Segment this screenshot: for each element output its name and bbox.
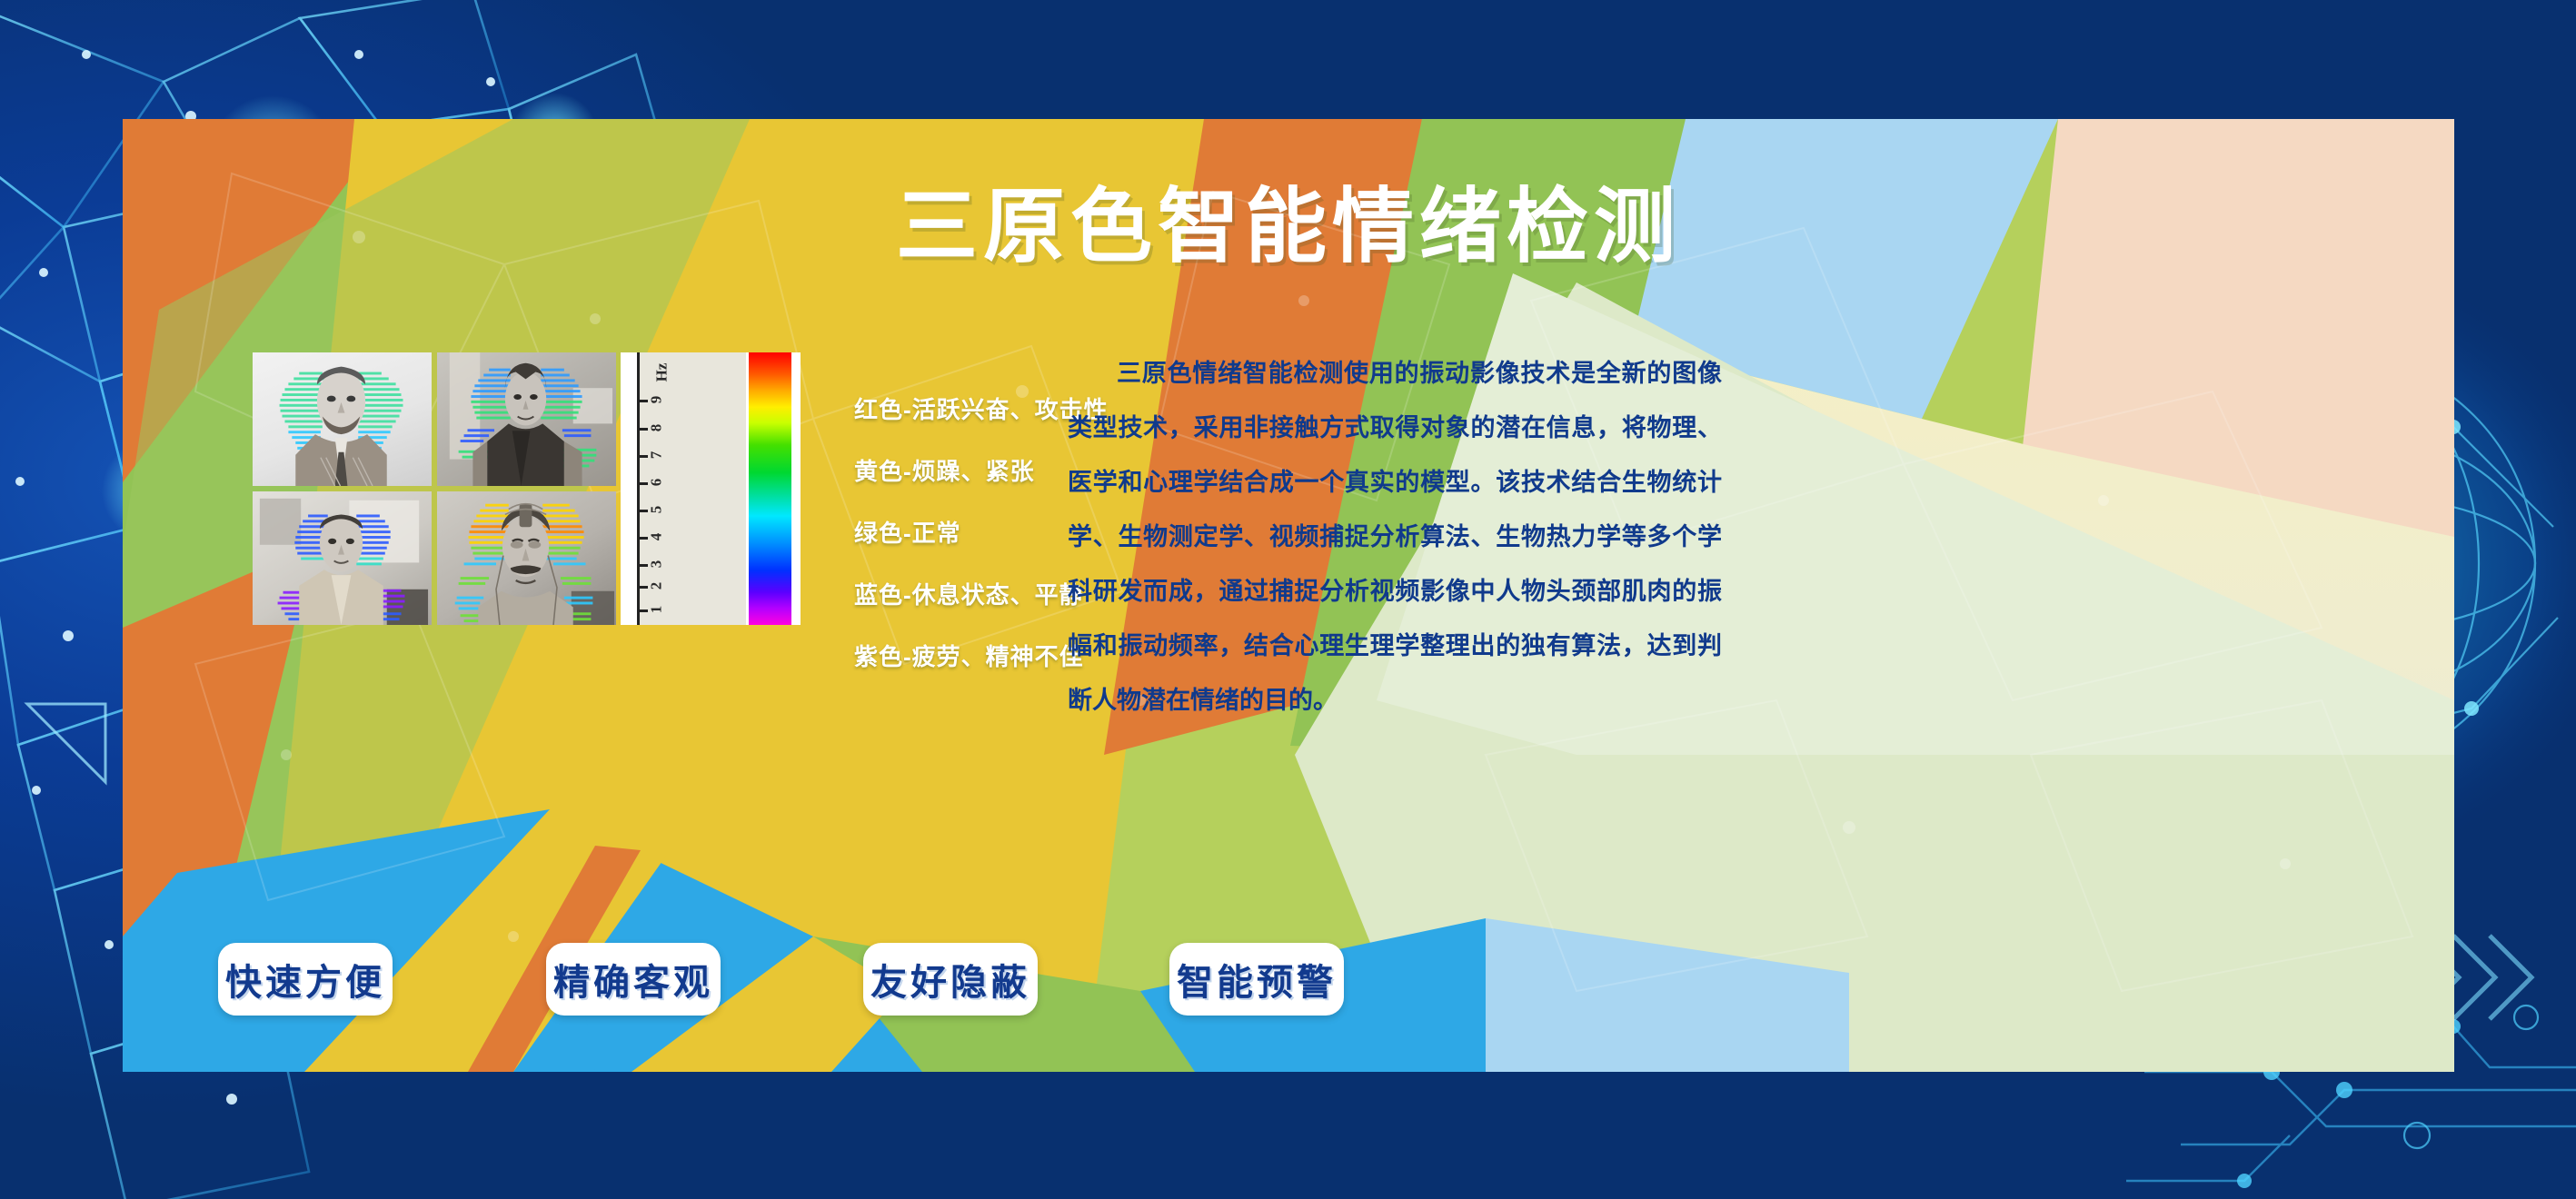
feature-pill-alert-label: 智能预警 [1177, 953, 1337, 1006]
face-aura-3 [437, 491, 616, 625]
photo-cell-3 [437, 491, 616, 625]
page-title: 三原色智能情绪检测 [123, 160, 2454, 278]
feature-pill-accurate-label: 精确客观 [553, 953, 713, 1006]
feature-pill-alert[interactable]: 智能预警 [1169, 943, 1344, 1016]
feature-pill-friendly[interactable]: 友好隐蔽 [863, 943, 1038, 1016]
face-aura-2 [253, 491, 432, 625]
feature-pill-fast-label: 快速方便 [225, 953, 385, 1006]
feature-pill-fast[interactable]: 快速方便 [218, 943, 393, 1016]
description-paragraph: 三原色情绪智能检测使用的振动影像技术是全新的图像类型技术，采用非接触方式取得对象… [1068, 346, 1722, 728]
colorbar-tick-6: 6 [647, 479, 665, 487]
colorbar-tick-1: 1 [647, 606, 665, 614]
colorbar-tick-3: 3 [647, 560, 665, 569]
colorbar-scale: Hz 9 8 7 6 5 4 3 2 1 [637, 352, 746, 625]
colorbar-tick-8: 8 [647, 424, 665, 432]
feature-pill-row: 快速方便 精确客观 友好隐蔽 智能预警 [123, 943, 2454, 1034]
photo-cell-2 [253, 491, 432, 625]
feature-pill-friendly-label: 友好隐蔽 [870, 953, 1030, 1006]
colorbar-unit-label: Hz [652, 363, 671, 382]
colorbar-gradient [749, 352, 791, 625]
face-aura-1 [437, 352, 616, 486]
colorbar-tick-7: 7 [647, 451, 665, 460]
colorbar-tick-4: 4 [647, 533, 665, 541]
colorbar-tick-9: 9 [647, 396, 665, 404]
photo-cell-0 [253, 352, 432, 486]
colorbar-tick-5: 5 [647, 506, 665, 514]
vibraimage-photo-grid [253, 352, 616, 625]
poster-card: 三原色智能情绪检测 [123, 119, 2454, 1072]
feature-pill-accurate[interactable]: 精确客观 [546, 943, 721, 1016]
frequency-colorbar: Hz 9 8 7 6 5 4 3 2 1 [621, 352, 801, 625]
photo-cell-1 [437, 352, 616, 486]
face-aura-0 [253, 352, 432, 486]
colorbar-tick-2: 2 [647, 582, 665, 590]
